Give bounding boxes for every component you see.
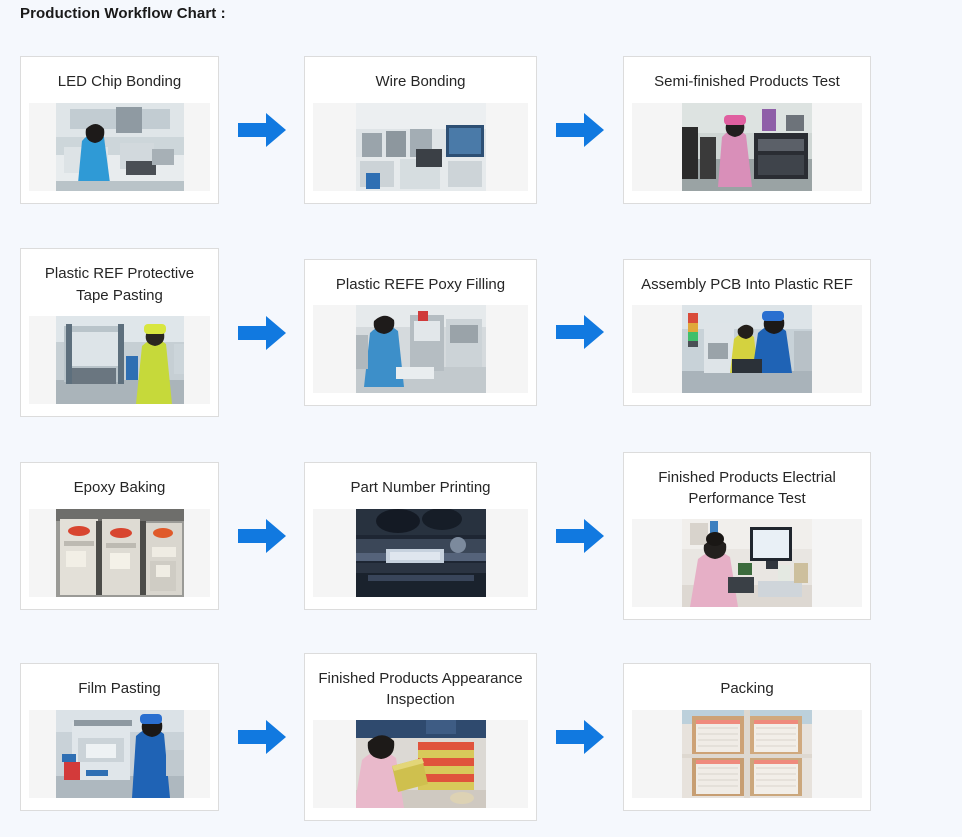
- workflow-step-photo-strip: [632, 710, 862, 798]
- workflow-arrow-slot: [219, 313, 304, 353]
- workflow-step-photo-strip: [632, 305, 862, 393]
- workflow-cell: Semi-finished Products Test: [623, 56, 962, 203]
- workflow-row: Film Pasting Finished Products Appearanc…: [0, 637, 962, 837]
- workflow-step-label: Epoxy Baking: [72, 477, 168, 498]
- workflow-cell: Assembly PCB Into Plastic REF: [623, 259, 962, 406]
- workflow-step-label: Assembly PCB Into Plastic REF: [639, 274, 855, 295]
- workflow-row: LED Chip Bonding Wire Bonding: [0, 30, 962, 230]
- workflow-step-card[interactable]: Semi-finished Products Test: [623, 56, 871, 203]
- workflow-row: Plastic REF Protective Tape Pasting Plas…: [0, 230, 962, 435]
- led-chip-bonding-photo: [56, 103, 184, 191]
- workflow-cell: Epoxy Baking: [0, 462, 304, 609]
- workflow-arrow-slot: [219, 717, 304, 757]
- workflow-cell: Part Number Printing: [304, 462, 623, 609]
- workflow-arrow-slot: [219, 516, 304, 556]
- workflow-step-card[interactable]: LED Chip Bonding: [20, 56, 219, 203]
- arrow-right-icon: [236, 110, 288, 150]
- plastic-ref-protective-tape-pasting-photo: [56, 316, 184, 404]
- workflow-step-photo-strip: [313, 103, 528, 191]
- workflow-step-card[interactable]: Finished Products Appearance Inspection: [304, 653, 537, 822]
- workflow-cell: Finished Products Electrial Performance …: [623, 452, 962, 621]
- workflow-step-label: Packing: [718, 678, 775, 699]
- packing-photo: [682, 710, 812, 798]
- workflow-step-card[interactable]: Epoxy Baking: [20, 462, 219, 609]
- workflow-step-card[interactable]: Finished Products Electrial Performance …: [623, 452, 871, 621]
- workflow-step-label: Part Number Printing: [348, 477, 492, 498]
- workflow-step-label: Finished Products Electrial Performance …: [632, 467, 862, 510]
- wire-bonding-photo: [356, 103, 486, 191]
- workflow-arrow-slot: [537, 312, 623, 352]
- workflow-arrow-slot: [537, 516, 623, 556]
- part-number-printing-photo: [356, 509, 486, 597]
- workflow-step-photo-strip: [29, 710, 210, 798]
- workflow-step-label: Semi-finished Products Test: [652, 71, 842, 92]
- workflow-cell: Finished Products Appearance Inspection: [304, 653, 623, 822]
- workflow-step-card[interactable]: Wire Bonding: [304, 56, 537, 203]
- assembly-pcb-into-plastic-ref-photo: [682, 305, 812, 393]
- workflow-step-card[interactable]: Film Pasting: [20, 663, 219, 810]
- workflow-step-label: Film Pasting: [76, 678, 163, 699]
- arrow-right-icon: [554, 717, 606, 757]
- workflow-step-photo-strip: [29, 316, 210, 404]
- workflow-step-label: Plastic REF Protective Tape Pasting: [29, 263, 210, 306]
- arrow-right-icon: [236, 313, 288, 353]
- workflow-step-card[interactable]: Plastic REFE Poxy Filling: [304, 259, 537, 406]
- arrow-right-icon: [554, 312, 606, 352]
- epoxy-baking-photo: [56, 509, 184, 597]
- workflow-arrow-slot: [537, 110, 623, 150]
- workflow-row: Epoxy Baking Part Number Printing: [0, 435, 962, 637]
- workflow-step-photo-strip: [313, 720, 528, 808]
- workflow-step-card[interactable]: Plastic REF Protective Tape Pasting: [20, 248, 219, 417]
- arrow-right-icon: [554, 516, 606, 556]
- workflow-step-card[interactable]: Part Number Printing: [304, 462, 537, 609]
- finished-products-electrial-performance-test-photo: [682, 519, 812, 607]
- semi-finished-products-test-photo: [682, 103, 812, 191]
- workflow-arrow-slot: [537, 717, 623, 757]
- workflow-cell: Packing: [623, 663, 962, 810]
- workflow-step-photo-strip: [29, 509, 210, 597]
- workflow-step-photo-strip: [313, 305, 528, 393]
- workflow-step-label: Plastic REFE Poxy Filling: [334, 274, 507, 295]
- workflow-step-photo-strip: [632, 519, 862, 607]
- workflow-chart: LED Chip Bonding Wire Bonding: [0, 30, 962, 837]
- workflow-step-label: LED Chip Bonding: [56, 71, 183, 92]
- workflow-step-photo-strip: [313, 509, 528, 597]
- arrow-right-icon: [236, 516, 288, 556]
- workflow-step-photo-strip: [29, 103, 210, 191]
- workflow-step-label: Wire Bonding: [373, 71, 467, 92]
- plastic-refe-poxy-filling-photo: [356, 305, 486, 393]
- workflow-cell: Plastic REFE Poxy Filling: [304, 259, 623, 406]
- workflow-cell: LED Chip Bonding: [0, 56, 304, 203]
- workflow-arrow-slot: [219, 110, 304, 150]
- finished-products-appearance-inspection-photo: [356, 720, 486, 808]
- workflow-step-card[interactable]: Packing: [623, 663, 871, 810]
- arrow-right-icon: [236, 717, 288, 757]
- workflow-step-card[interactable]: Assembly PCB Into Plastic REF: [623, 259, 871, 406]
- workflow-step-photo-strip: [632, 103, 862, 191]
- arrow-right-icon: [554, 110, 606, 150]
- film-pasting-photo: [56, 710, 184, 798]
- workflow-step-label: Finished Products Appearance Inspection: [313, 668, 528, 711]
- workflow-cell: Film Pasting: [0, 663, 304, 810]
- workflow-cell: Wire Bonding: [304, 56, 623, 203]
- workflow-cell: Plastic REF Protective Tape Pasting: [0, 248, 304, 417]
- page-title: Production Workflow Chart :: [20, 5, 226, 22]
